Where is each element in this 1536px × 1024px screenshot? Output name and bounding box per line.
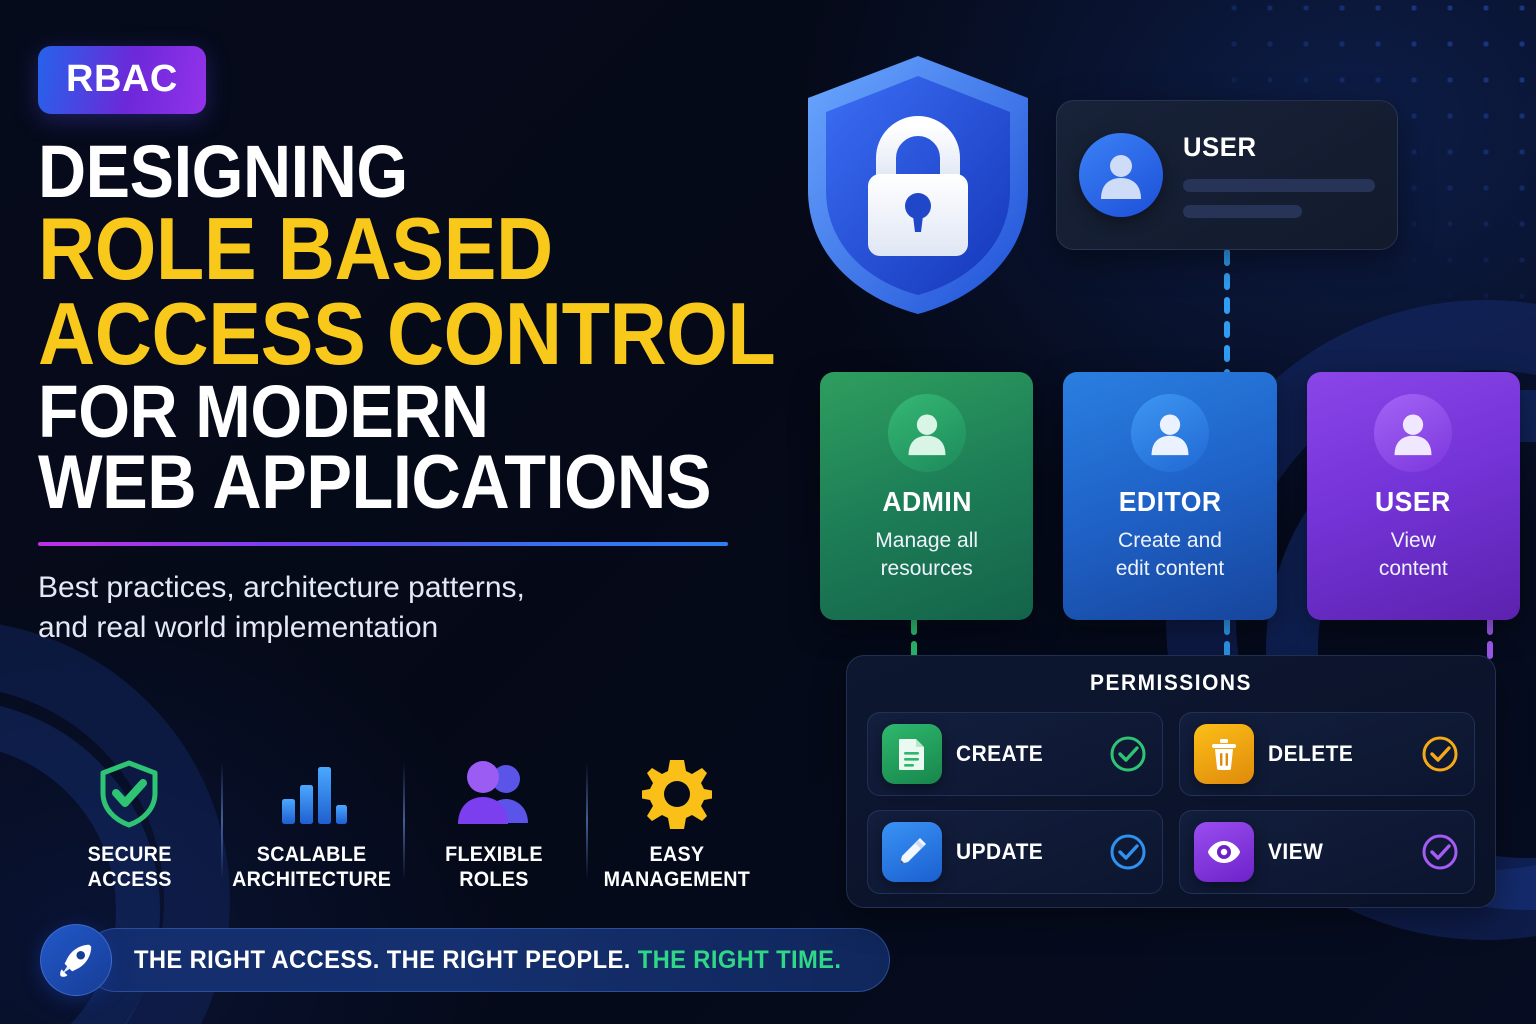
role-name: EDITOR xyxy=(1119,486,1222,518)
permissions-title: PERMISSIONS xyxy=(882,670,1460,696)
role-card-editor[interactable]: EDITOR Create and edit content xyxy=(1063,372,1276,620)
feature-label-line-1: SECURE xyxy=(87,843,171,866)
feature-label: SCALABLE ARCHITECTURE xyxy=(232,842,391,892)
role-card-user[interactable]: USER View content xyxy=(1307,372,1520,620)
feature-flexible-roles: FLEXIBLE ROLES xyxy=(403,758,586,892)
user-avatar-icon xyxy=(888,394,966,472)
feature-secure-access: SECURE ACCESS xyxy=(38,758,221,892)
gear-icon xyxy=(642,758,712,830)
subtitle-line-1: Best practices, architecture patterns, xyxy=(38,568,818,609)
user-card-placeholder-bar-2 xyxy=(1183,205,1302,218)
feature-label-line-1: FLEXIBLE xyxy=(445,843,543,866)
permissions-grid: CREATE DELETE xyxy=(867,712,1475,894)
user-avatar-icon xyxy=(1079,133,1163,217)
feature-scalable-architecture: SCALABLE ARCHITECTURE xyxy=(221,758,404,892)
role-desc-line-1: Manage all xyxy=(875,529,978,552)
eye-icon xyxy=(1194,822,1254,882)
role-description: Manage all resources xyxy=(875,527,978,582)
user-avatar-icon xyxy=(1374,394,1452,472)
user-card-title: USER xyxy=(1183,132,1365,163)
role-desc-line-2: content xyxy=(1379,557,1448,580)
document-icon xyxy=(882,724,942,784)
trash-icon xyxy=(1194,724,1254,784)
tagline-text-accent: THE RIGHT TIME. xyxy=(638,946,842,974)
feature-label-line-2: ARCHITECTURE xyxy=(232,868,391,891)
bar-chart-icon xyxy=(277,758,347,830)
feature-label-line-2: ROLES xyxy=(460,868,529,891)
check-circle-icon xyxy=(1108,832,1148,872)
permissions-panel: PERMISSIONS CREATE xyxy=(846,655,1496,908)
role-description: View content xyxy=(1379,527,1448,582)
permission-label: CREATE xyxy=(956,741,1100,767)
permission-label: VIEW xyxy=(1268,839,1412,865)
shield-lock-icon xyxy=(798,50,1038,320)
page-title: DESIGNING ROLE BASED ACCESS CONTROL FOR … xyxy=(38,136,818,520)
user-card-body: USER xyxy=(1183,132,1375,218)
role-name: USER xyxy=(1375,486,1451,518)
pencil-icon xyxy=(882,822,942,882)
feature-label-line-1: SCALABLE xyxy=(257,843,367,866)
role-desc-line-2: edit content xyxy=(1116,557,1225,580)
permission-label: DELETE xyxy=(1268,741,1412,767)
permission-row-create[interactable]: CREATE xyxy=(867,712,1163,796)
title-divider xyxy=(38,542,728,546)
tagline-text: THE RIGHT ACCESS. THE RIGHT PEOPLE. THE … xyxy=(134,946,841,975)
title-line-5: WEB APPLICATIONS xyxy=(38,447,740,520)
role-desc-line-2: resources xyxy=(881,557,973,580)
user-card[interactable]: USER xyxy=(1056,100,1398,250)
feature-easy-management: EASY MANAGEMENT xyxy=(586,758,769,892)
title-line-2: ROLE BASED xyxy=(38,207,740,291)
feature-label: EASY MANAGEMENT xyxy=(604,842,750,892)
rbac-badge: RBAC xyxy=(38,46,206,114)
role-desc-line-1: View xyxy=(1391,529,1436,552)
feature-label-line-2: MANAGEMENT xyxy=(604,868,750,891)
rocket-icon xyxy=(40,924,112,996)
role-card-admin[interactable]: ADMIN Manage all resources xyxy=(820,372,1033,620)
title-line-4: FOR MODERN xyxy=(38,376,740,447)
tagline-text-primary: THE RIGHT ACCESS. THE RIGHT PEOPLE. xyxy=(134,946,631,974)
permission-row-delete[interactable]: DELETE xyxy=(1179,712,1475,796)
permission-row-update[interactable]: UPDATE xyxy=(867,810,1163,894)
feature-label-line-1: EASY xyxy=(649,843,704,866)
role-cards: ADMIN Manage all resources EDITOR Create… xyxy=(820,372,1520,620)
subtitle: Best practices, architecture patterns, a… xyxy=(38,568,818,649)
role-name: ADMIN xyxy=(882,486,972,518)
feature-strip: SECURE ACCESS SCALABLE ARCHITECTURE xyxy=(38,758,768,892)
hero-section: RBAC DESIGNING ROLE BASED ACCESS CONTROL… xyxy=(38,46,818,649)
feature-label-line-2: ACCESS xyxy=(87,868,171,891)
role-desc-line-1: Create and xyxy=(1118,529,1222,552)
title-line-3: ACCESS CONTROL xyxy=(38,292,740,376)
rbac-diagram: USER ADMIN Manage all resources xyxy=(790,0,1536,1024)
permission-label: UPDATE xyxy=(956,839,1100,865)
feature-label: SECURE ACCESS xyxy=(87,842,171,892)
role-description: Create and edit content xyxy=(1116,527,1225,582)
shield-check-icon xyxy=(97,758,161,830)
subtitle-line-2: and real world implementation xyxy=(38,608,818,649)
check-circle-icon xyxy=(1420,832,1460,872)
permission-row-view[interactable]: VIEW xyxy=(1179,810,1475,894)
feature-label: FLEXIBLE ROLES xyxy=(445,842,543,892)
user-card-placeholder-bar-1 xyxy=(1183,179,1375,192)
check-circle-icon xyxy=(1420,734,1460,774)
tagline-banner: THE RIGHT ACCESS. THE RIGHT PEOPLE. THE … xyxy=(40,924,890,996)
people-icon xyxy=(456,758,532,830)
user-avatar-icon xyxy=(1131,394,1209,472)
check-circle-icon xyxy=(1108,734,1148,774)
title-line-1: DESIGNING xyxy=(38,136,740,207)
